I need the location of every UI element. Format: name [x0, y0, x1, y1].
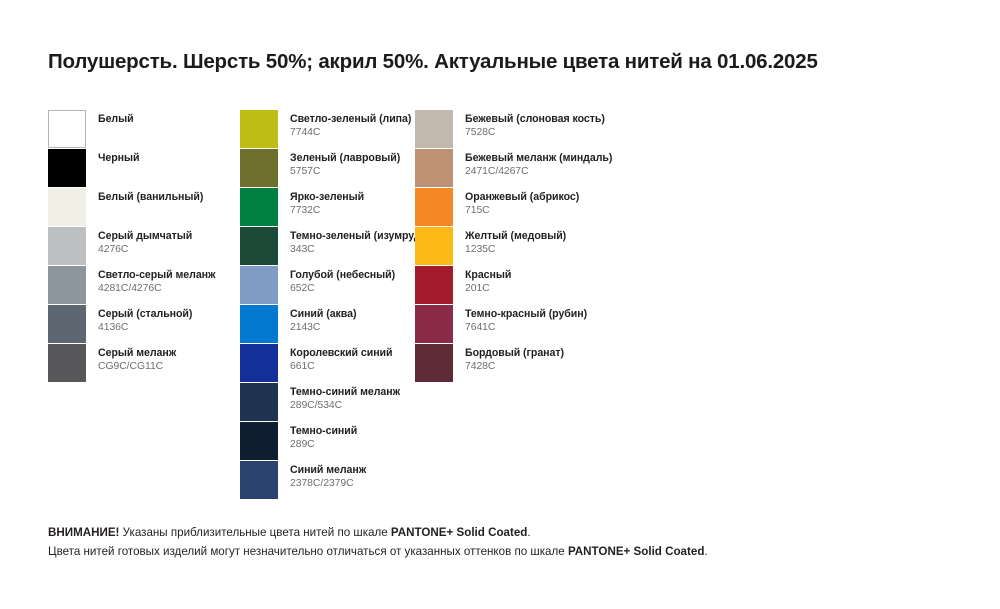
- swatch-labels: Белый (ванильный): [98, 188, 203, 204]
- swatch-pantone-code: 661C: [290, 361, 393, 373]
- swatch-name: Синий (аква): [290, 308, 356, 321]
- footer-line-2-tail: .: [704, 545, 707, 558]
- color-swatch: [240, 149, 278, 187]
- swatch-row: Темно-зеленый (изумруд)343C: [240, 227, 415, 266]
- swatch-row: Серый (стальной)4136C: [48, 305, 233, 344]
- swatch-row: Ярко-зеленый7732C: [240, 188, 415, 227]
- swatch-labels: Синий меланж2378C/2379C: [290, 461, 366, 490]
- swatch-name: Белый (ванильный): [98, 191, 203, 204]
- color-swatch: [240, 227, 278, 265]
- swatch-pantone-code: 652C: [290, 283, 395, 295]
- swatch-pantone-code: 289C: [290, 439, 357, 451]
- swatch-labels: Черный: [98, 149, 139, 165]
- color-swatch: [415, 305, 453, 343]
- swatch-column-2: Светло-зеленый (липа)7744CЗеленый (лавро…: [240, 110, 415, 500]
- swatch-labels: Темно-синий меланж289C/534C: [290, 383, 400, 412]
- color-swatch: [240, 344, 278, 382]
- swatch-pantone-code: 1235C: [465, 244, 566, 256]
- color-swatch: [240, 422, 278, 460]
- color-swatch: [240, 188, 278, 226]
- swatch-pantone-code: 2378C/2379C: [290, 478, 366, 490]
- swatch-pantone-code: 7641C: [465, 322, 587, 334]
- swatch-row: Оранжевый (абрикос)715C: [415, 188, 665, 227]
- swatch-pantone-code: CG9C/CG11C: [98, 361, 176, 373]
- swatch-labels: Желтый (медовый)1235C: [465, 227, 566, 256]
- footer-pantone-label-1: PANTONE+ Solid Coated: [391, 526, 527, 539]
- swatch-pantone-code: 7428C: [465, 361, 564, 373]
- color-swatch: [48, 305, 86, 343]
- swatch-name: Синий меланж: [290, 464, 366, 477]
- color-swatch: [415, 149, 453, 187]
- swatch-name: Бордовый (гранат): [465, 347, 564, 360]
- swatch-pantone-code: 2471C/4267C: [465, 166, 612, 178]
- swatch-column-3: Бежевый (слоновая кость)7528CБежевый мел…: [415, 110, 665, 383]
- swatch-row: Белый (ванильный): [48, 188, 233, 227]
- footer-line-1-tail: .: [527, 526, 530, 539]
- swatch-labels: Бежевый меланж (миндаль)2471C/4267C: [465, 149, 612, 178]
- swatch-name: Бежевый меланж (миндаль): [465, 152, 612, 165]
- swatch-name: Зеленый (лавровый): [290, 152, 400, 165]
- swatch-name: Королевский синий: [290, 347, 393, 360]
- swatch-labels: Светло-зеленый (липа)7744C: [290, 110, 411, 139]
- swatch-row: Белый: [48, 110, 233, 149]
- color-swatch: [415, 110, 453, 148]
- swatch-pantone-code: 7744C: [290, 127, 411, 139]
- color-swatch: [48, 227, 86, 265]
- swatch-pantone-code: 4136C: [98, 322, 192, 334]
- swatch-pantone-code: 343C: [290, 244, 424, 256]
- swatch-row: Серый дымчатый4276C: [48, 227, 233, 266]
- page-title: Полушерсть. Шерсть 50%; акрил 50%. Актуа…: [48, 50, 978, 74]
- swatch-row: Зеленый (лавровый)5757C: [240, 149, 415, 188]
- color-swatch: [240, 383, 278, 421]
- swatch-row: Королевский синий661C: [240, 344, 415, 383]
- swatch-name: Светло-серый меланж: [98, 269, 215, 282]
- swatch-name: Темно-синий меланж: [290, 386, 400, 399]
- swatch-labels: Ярко-зеленый7732C: [290, 188, 364, 217]
- color-swatch: [240, 110, 278, 148]
- color-swatch: [415, 344, 453, 382]
- color-swatch: [48, 266, 86, 304]
- color-swatch: [240, 266, 278, 304]
- swatch-labels: Серый дымчатый4276C: [98, 227, 192, 256]
- swatch-pantone-code: 7528C: [465, 127, 605, 139]
- swatch-pantone-code: 5757C: [290, 166, 400, 178]
- color-swatch: [48, 344, 86, 382]
- footer-attention-label: ВНИМАНИЕ!: [48, 526, 119, 539]
- footer-line-2: Цвета нитей готовых изделий могут незнач…: [48, 543, 978, 562]
- swatch-row: Бордовый (гранат)7428C: [415, 344, 665, 383]
- swatch-labels: Королевский синий661C: [290, 344, 393, 373]
- color-swatch: [240, 305, 278, 343]
- swatch-name: Темно-красный (рубин): [465, 308, 587, 321]
- footer-line-1-text: Указаны приблизительные цвета нитей по ш…: [119, 526, 390, 539]
- swatch-labels: Серый (стальной)4136C: [98, 305, 192, 334]
- swatch-name: Желтый (медовый): [465, 230, 566, 243]
- swatch-name: Бежевый (слоновая кость): [465, 113, 605, 126]
- swatch-name: Белый: [98, 113, 134, 126]
- footer-line-1: ВНИМАНИЕ! Указаны приблизительные цвета …: [48, 524, 978, 543]
- swatch-name: Серый (стальной): [98, 308, 192, 321]
- swatch-row: Светло-серый меланж4281C/4276C: [48, 266, 233, 305]
- swatch-labels: Светло-серый меланж4281C/4276C: [98, 266, 215, 295]
- swatch-name: Ярко-зеленый: [290, 191, 364, 204]
- footer-line-2-text: Цвета нитей готовых изделий могут незнач…: [48, 545, 568, 558]
- swatch-name: Черный: [98, 152, 139, 165]
- swatch-name: Темно-синий: [290, 425, 357, 438]
- swatch-column-1: БелыйЧерныйБелый (ванильный)Серый дымчат…: [48, 110, 233, 383]
- swatch-row: Бежевый (слоновая кость)7528C: [415, 110, 665, 149]
- swatch-pantone-code: 715C: [465, 205, 579, 217]
- color-swatch: [240, 461, 278, 499]
- swatch-pantone-code: 201C: [465, 283, 511, 295]
- swatch-name: Светло-зеленый (липа): [290, 113, 411, 126]
- swatch-row: Темно-синий289C: [240, 422, 415, 461]
- swatch-row: Светло-зеленый (липа)7744C: [240, 110, 415, 149]
- swatch-row: Серый меланжCG9C/CG11C: [48, 344, 233, 383]
- swatch-labels: Оранжевый (абрикос)715C: [465, 188, 579, 217]
- swatch-name: Серый дымчатый: [98, 230, 192, 243]
- swatch-labels: Серый меланжCG9C/CG11C: [98, 344, 176, 373]
- color-chart-page: Полушерсть. Шерсть 50%; акрил 50%. Актуа…: [0, 0, 1000, 609]
- swatch-pantone-code: 289C/534C: [290, 400, 400, 412]
- swatch-row: Голубой (небесный)652C: [240, 266, 415, 305]
- swatch-labels: Зеленый (лавровый)5757C: [290, 149, 400, 178]
- color-swatch: [48, 149, 86, 187]
- swatch-name: Темно-зеленый (изумруд): [290, 230, 424, 243]
- swatch-row: Черный: [48, 149, 233, 188]
- swatch-columns: БелыйЧерныйБелый (ванильный)Серый дымчат…: [0, 110, 1000, 500]
- swatch-labels: Синий (аква)2143C: [290, 305, 356, 334]
- swatch-labels: Темно-красный (рубин)7641C: [465, 305, 587, 334]
- swatch-labels: Темно-зеленый (изумруд)343C: [290, 227, 424, 256]
- swatch-pantone-code: 4276C: [98, 244, 192, 256]
- swatch-labels: Красный201C: [465, 266, 511, 295]
- swatch-pantone-code: 4281C/4276C: [98, 283, 215, 295]
- swatch-row: Бежевый меланж (миндаль)2471C/4267C: [415, 149, 665, 188]
- swatch-row: Темно-синий меланж289C/534C: [240, 383, 415, 422]
- swatch-labels: Темно-синий289C: [290, 422, 357, 451]
- swatch-name: Красный: [465, 269, 511, 282]
- swatch-pantone-code: 7732C: [290, 205, 364, 217]
- color-swatch: [415, 266, 453, 304]
- color-swatch: [48, 110, 86, 148]
- swatch-row: Синий (аква)2143C: [240, 305, 415, 344]
- swatch-row: Желтый (медовый)1235C: [415, 227, 665, 266]
- swatch-labels: Белый: [98, 110, 134, 126]
- swatch-labels: Бежевый (слоновая кость)7528C: [465, 110, 605, 139]
- swatch-row: Красный201C: [415, 266, 665, 305]
- color-swatch: [48, 188, 86, 226]
- color-swatch: [415, 188, 453, 226]
- swatch-row: Темно-красный (рубин)7641C: [415, 305, 665, 344]
- swatch-name: Серый меланж: [98, 347, 176, 360]
- footer-notice: ВНИМАНИЕ! Указаны приблизительные цвета …: [48, 524, 978, 562]
- swatch-row: Синий меланж2378C/2379C: [240, 461, 415, 500]
- footer-pantone-label-2: PANTONE+ Solid Coated: [568, 545, 704, 558]
- swatch-labels: Голубой (небесный)652C: [290, 266, 395, 295]
- swatch-name: Голубой (небесный): [290, 269, 395, 282]
- color-swatch: [415, 227, 453, 265]
- swatch-pantone-code: 2143C: [290, 322, 356, 334]
- swatch-name: Оранжевый (абрикос): [465, 191, 579, 204]
- swatch-labels: Бордовый (гранат)7428C: [465, 344, 564, 373]
